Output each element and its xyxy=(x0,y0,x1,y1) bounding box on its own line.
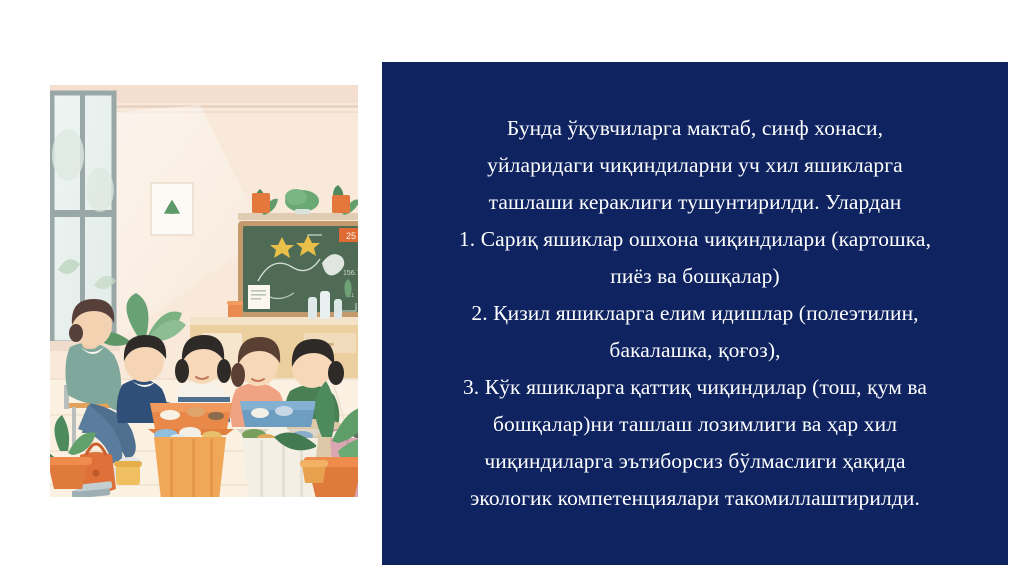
svg-text:156.7: 156.7 xyxy=(343,270,358,277)
chalkboard-graphic: 156.7 2.1 25 xyxy=(238,185,358,317)
recycling-poster-graphic xyxy=(151,183,193,235)
text-line-11: экологик компетенциялари такомиллаштирил… xyxy=(392,480,998,517)
text-line-2: уйларидаги чиқиндиларни уч хил яшикларга xyxy=(392,147,998,184)
svg-text:25: 25 xyxy=(346,231,356,241)
text-line-4: 1. Сариқ яшиклар ошхона чиқиндилари (кар… xyxy=(392,221,998,258)
content-text-panel: Бунда ўқувчиларга мактаб, синф хонаси, у… xyxy=(382,62,1008,565)
text-line-6: 2. Қизил яшикларга елим идишлар (полеэти… xyxy=(392,295,998,332)
slide-canvas: 156.7 2.1 25 xyxy=(0,0,1024,578)
text-line-5: пиёз ва бошқалар) xyxy=(392,258,998,295)
text-line-3: ташлаши кераклиги тушунтирилди. Улардан xyxy=(392,184,998,221)
text-line-10: чиқиндиларга эътиборсиз бўлмаслиги ҳақид… xyxy=(392,443,998,480)
text-line-9: бошқалар)ни ташлаш лозимлиги ва ҳар хил xyxy=(392,406,998,443)
slide-body-text: Бунда ўқувчиларга мактаб, синф хонаси, у… xyxy=(382,110,1008,517)
classroom-illustration: 156.7 2.1 25 xyxy=(50,85,358,497)
text-line-7: бакалашка, қоғоз), xyxy=(392,332,998,369)
blue-bin-graphic xyxy=(240,401,316,427)
text-line-8: 3. Кўк яшикларга қаттиқ чиқиндилар (тош,… xyxy=(392,369,998,406)
text-line-1: Бунда ўқувчиларга мактаб, синф хонаси, xyxy=(392,110,998,147)
classroom-illustration-graphic: 156.7 2.1 25 xyxy=(50,85,358,497)
